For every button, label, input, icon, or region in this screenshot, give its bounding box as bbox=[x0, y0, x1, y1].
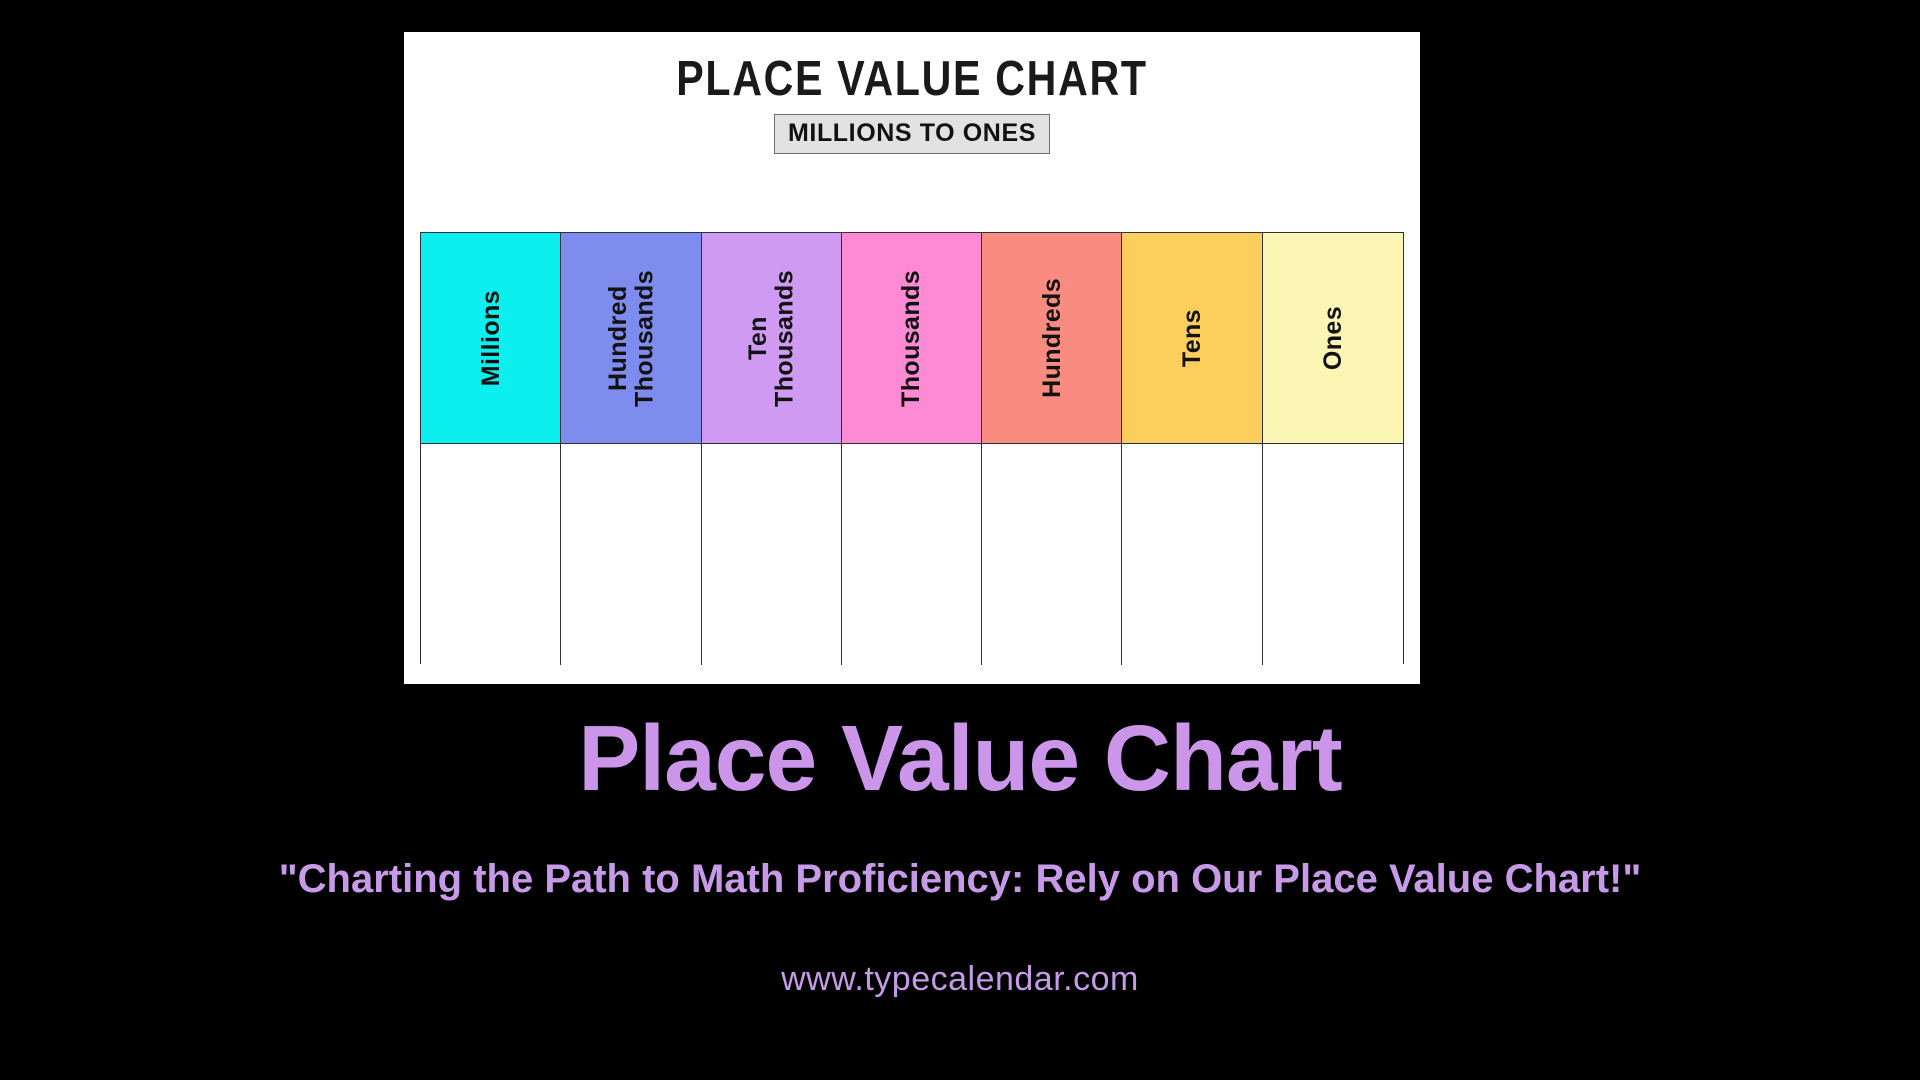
entry-cell-ones[interactable] bbox=[1263, 444, 1403, 665]
header-label-tens: Tens bbox=[1179, 309, 1205, 367]
poster-heading: Place Value Chart bbox=[0, 712, 1920, 805]
header-label-ten-thousands: Ten Thousands bbox=[745, 270, 798, 407]
subtitle-badge: MILLIONS TO ONES bbox=[774, 114, 1050, 154]
entry-cell-ten-thousands[interactable] bbox=[702, 444, 842, 665]
website-url[interactable]: www.typecalendar.com bbox=[0, 960, 1920, 999]
entry-cell-tens[interactable] bbox=[1122, 444, 1262, 665]
page-title: PLACE VALUE CHART bbox=[485, 54, 1338, 105]
entry-cell-hundreds[interactable] bbox=[982, 444, 1122, 665]
header-cell-tens: Tens bbox=[1122, 233, 1262, 444]
poster-tagline: "Charting the Path to Math Proficiency: … bbox=[0, 857, 1920, 902]
header-label-millions: Millions bbox=[478, 290, 504, 386]
place-value-grid: Millions Hundred Thousands Ten Thousands… bbox=[420, 232, 1404, 664]
header-cell-ten-thousands: Ten Thousands bbox=[702, 233, 842, 444]
header-cell-thousands: Thousands bbox=[842, 233, 982, 444]
printable-chart-card: PLACE VALUE CHART MILLIONS TO ONES Milli… bbox=[404, 32, 1420, 684]
header-cell-ones: Ones bbox=[1263, 233, 1403, 444]
header-cell-hundreds: Hundreds bbox=[982, 233, 1122, 444]
header-label-thousands: Thousands bbox=[898, 270, 924, 407]
subtitle-wrapper: MILLIONS TO ONES bbox=[404, 114, 1420, 154]
poster-footer: Place Value Chart "Charting the Path to … bbox=[0, 684, 1920, 1080]
poster-root: PLACE VALUE CHART MILLIONS TO ONES Milli… bbox=[0, 0, 1920, 1080]
card-header: PLACE VALUE CHART MILLIONS TO ONES bbox=[404, 32, 1420, 154]
header-cell-millions: Millions bbox=[421, 233, 561, 444]
entry-cell-millions[interactable] bbox=[421, 444, 561, 665]
header-label-ones: Ones bbox=[1320, 306, 1346, 370]
header-cell-hundred-thousands: Hundred Thousands bbox=[561, 233, 701, 444]
entry-cell-thousands[interactable] bbox=[842, 444, 982, 665]
header-label-hundreds: Hundreds bbox=[1039, 278, 1065, 398]
entry-cell-hundred-thousands[interactable] bbox=[561, 444, 701, 665]
header-label-hundred-thousands: Hundred Thousands bbox=[605, 270, 658, 407]
